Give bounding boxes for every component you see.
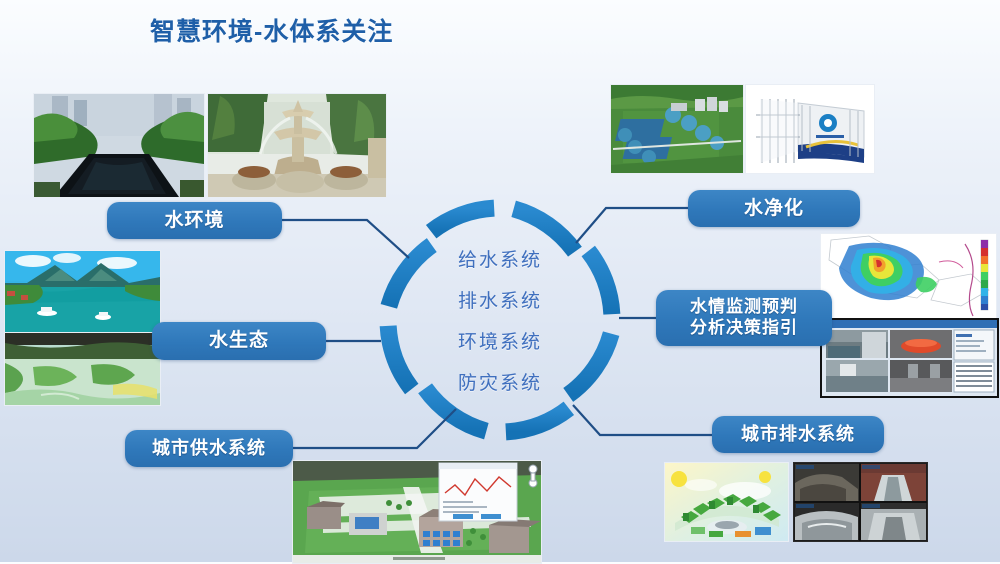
urban-canal-image <box>34 94 204 197</box>
photo-pipe-cameras <box>793 462 928 542</box>
node-water-monitoring-line2: 分析决策指引 <box>690 318 798 339</box>
ring-item-disaster: 防灾系统 <box>458 368 542 395</box>
node-city-water-supply[interactable]: 城市供水系统 <box>125 430 293 467</box>
lake-mountain-image <box>5 251 160 333</box>
node-water-purification-label: 水净化 <box>744 197 804 220</box>
photo-container-unit <box>745 84 875 174</box>
photo-urban-canal <box>33 93 205 198</box>
wetland-marsh-image <box>5 333 160 405</box>
photo-rainfall-radar <box>820 233 997 320</box>
treatment-plant-image <box>611 85 743 173</box>
node-water-monitoring-line1: 水情监测预判 <box>690 297 798 318</box>
page-title: 智慧环境-水体系关注 <box>150 12 393 48</box>
photo-lake-mountain <box>4 250 161 334</box>
gis-model-image <box>293 461 541 563</box>
pipe-cameras-image <box>794 463 927 541</box>
photo-gis-model <box>292 460 542 564</box>
node-water-monitoring[interactable]: 水情监测预判 分析决策指引 <box>656 290 832 346</box>
container-unit-image <box>746 85 874 173</box>
node-water-purification[interactable]: 水净化 <box>688 190 860 227</box>
ring-item-supply: 给水系统 <box>458 245 542 272</box>
slide-canvas: 智慧环境-水体系关注 <box>0 0 1000 562</box>
rainfall-radar-image <box>821 234 996 319</box>
node-water-environment[interactable]: 水环境 <box>107 202 282 239</box>
ring-item-environment: 环境系统 <box>458 327 542 354</box>
photo-stone-fountain <box>207 93 387 198</box>
monitoring-console-image <box>822 320 997 396</box>
ring-item-drainage: 排水系统 <box>458 286 542 313</box>
green-city-image <box>665 463 788 541</box>
node-water-ecology[interactable]: 水生态 <box>152 322 326 360</box>
photo-monitoring-console <box>820 318 999 398</box>
node-city-water-supply-label: 城市供水系统 <box>152 438 266 460</box>
stone-fountain-image <box>208 94 386 197</box>
node-water-environment-label: 水环境 <box>164 209 224 232</box>
center-ring-labels: 给水系统 排水系统 环境系统 防灾系统 <box>370 190 630 450</box>
node-water-ecology-label: 水生态 <box>209 329 269 352</box>
photo-green-city <box>664 462 789 542</box>
photo-wetland-marsh <box>4 332 161 406</box>
node-city-drainage[interactable]: 城市排水系统 <box>712 416 884 453</box>
photo-treatment-plant <box>610 84 744 174</box>
node-city-drainage-label: 城市排水系统 <box>741 424 855 446</box>
